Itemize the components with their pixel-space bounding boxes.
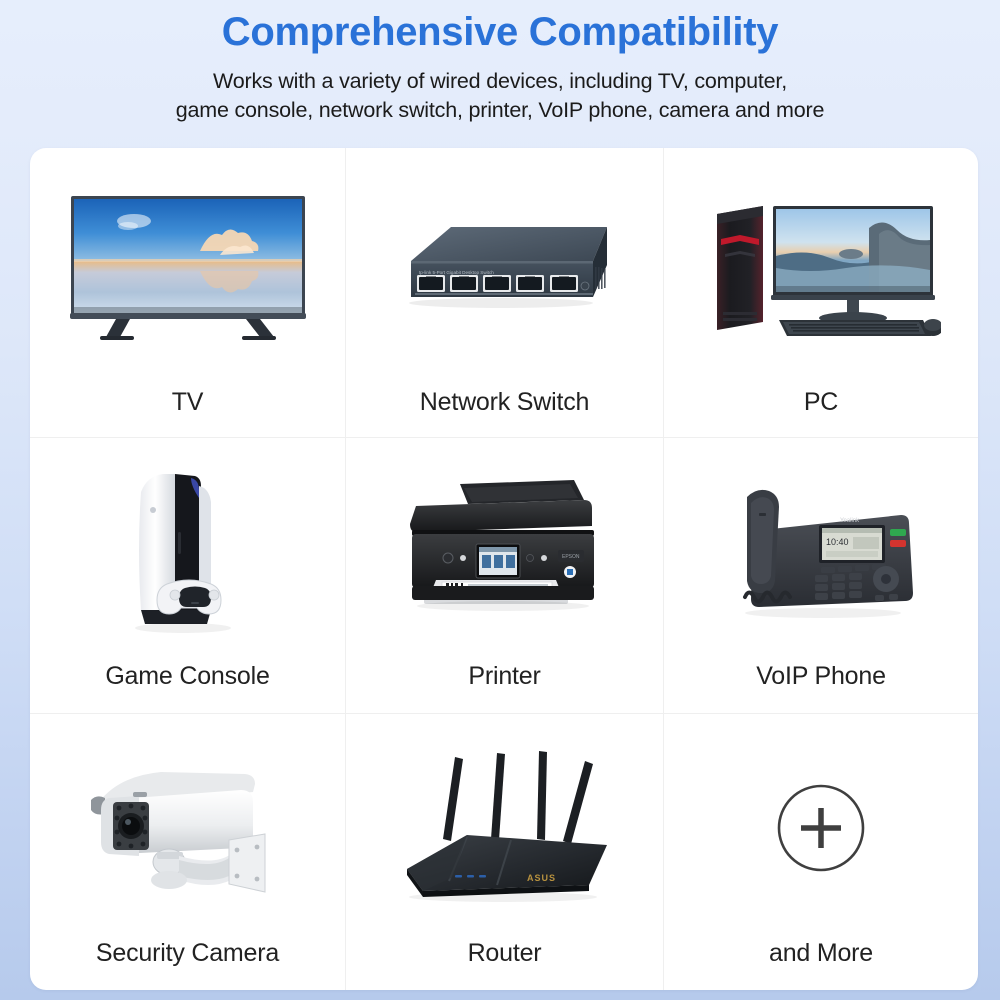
subtitle-line-1: Works with a variety of wired devices, i… xyxy=(0,67,1000,96)
device-grid: TV tp-link 5-Port Gigabit Desktop Switch xyxy=(30,148,978,990)
router-icon: ASUS xyxy=(346,714,663,941)
cell-label: Game Console xyxy=(105,664,269,705)
page-header: Comprehensive Compatibility Works with a… xyxy=(0,0,1000,125)
cell-label: Network Switch xyxy=(420,390,589,429)
grid-cell-router[interactable]: ASUS Router xyxy=(345,713,663,990)
cell-label: and More xyxy=(769,941,873,982)
tv-icon xyxy=(30,148,345,390)
cell-label: Router xyxy=(468,941,542,982)
page-subtitle: Works with a variety of wired devices, i… xyxy=(0,67,1000,125)
svg-text:tp-link 5-Port Gigabit Deskto: tp-link 5-Port Gigabit Desktop Switch xyxy=(419,270,494,275)
grid-cell-pc[interactable]: PC xyxy=(663,148,978,437)
svg-text:Yealink: Yealink xyxy=(840,518,860,524)
grid-cell-voip-phone[interactable]: 10:40 Yealink xyxy=(663,437,978,713)
svg-text:ASUS: ASUS xyxy=(527,873,556,883)
game-console-icon xyxy=(30,438,345,664)
svg-text:EPSON: EPSON xyxy=(562,554,580,560)
subtitle-line-2: game console, network switch, printer, V… xyxy=(0,96,1000,125)
cell-label: Printer xyxy=(468,664,540,705)
voip-phone-icon: 10:40 Yealink xyxy=(664,438,978,664)
grid-cell-network-switch[interactable]: tp-link 5-Port Gigabit Desktop Switch xyxy=(345,148,663,437)
security-camera-icon xyxy=(30,714,345,941)
grid-cell-printer[interactable]: EPSON 1 Printer xyxy=(345,437,663,713)
pc-icon xyxy=(664,148,978,390)
grid-cell-and-more[interactable]: and More xyxy=(663,713,978,990)
grid-cell-tv[interactable]: TV xyxy=(30,148,345,437)
cell-label: TV xyxy=(172,390,204,429)
page-title: Comprehensive Compatibility xyxy=(0,8,1000,57)
cell-label: Security Camera xyxy=(96,941,279,982)
grid-cell-game-console[interactable]: Game Console xyxy=(30,437,345,713)
cell-label: PC xyxy=(804,390,838,429)
cell-label: VoIP Phone xyxy=(756,664,886,705)
plus-circle-icon xyxy=(664,714,978,941)
network-switch-icon: tp-link 5-Port Gigabit Desktop Switch xyxy=(346,148,663,390)
compatibility-card: TV tp-link 5-Port Gigabit Desktop Switch xyxy=(30,148,978,990)
svg-text:10:40: 10:40 xyxy=(826,537,849,547)
printer-icon: EPSON 1 xyxy=(346,438,663,664)
grid-cell-security-camera[interactable]: Security Camera xyxy=(30,713,345,990)
